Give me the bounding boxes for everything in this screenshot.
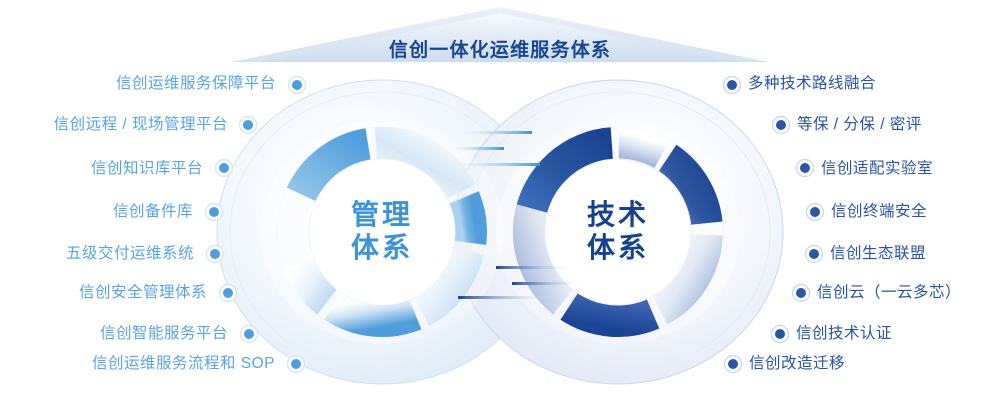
node-dot-left-1 <box>289 77 306 94</box>
management-ring-label-line2: 体系 <box>312 231 452 264</box>
left-label-6[interactable]: 信创安全管理体系 <box>79 285 207 301</box>
management-ring-label-line1: 管理 <box>312 198 452 231</box>
node-dot-right-8 <box>725 356 742 373</box>
right-label-5[interactable]: 信创生态联盟 <box>830 246 926 262</box>
left-label-7[interactable]: 信创智能服务平台 <box>100 326 228 342</box>
technology-ring-label-line2: 体系 <box>548 231 688 264</box>
diagram-title: 信创一体化运维服务体系 <box>0 35 1000 62</box>
node-dot-right-5 <box>806 246 823 263</box>
node-dot-right-6 <box>793 285 810 302</box>
right-label-8[interactable]: 信创改造迁移 <box>749 356 845 372</box>
left-label-1[interactable]: 信创运维服务保障平台 <box>116 76 276 92</box>
left-label-3[interactable]: 信创知识库平台 <box>91 161 203 177</box>
left-label-5[interactable]: 五级交付运维系统 <box>66 246 194 262</box>
node-dot-left-5 <box>207 246 224 263</box>
management-ring-label: 管理 体系 <box>312 198 452 264</box>
node-dot-right-1 <box>724 77 741 94</box>
right-label-7[interactable]: 信创技术认证 <box>796 326 892 342</box>
node-dot-left-7 <box>241 326 258 343</box>
node-dot-right-3 <box>797 160 814 177</box>
left-label-8[interactable]: 信创运维服务流程和 SOP <box>92 356 275 372</box>
node-dot-left-8 <box>288 356 305 373</box>
right-label-4[interactable]: 信创终端安全 <box>831 204 927 220</box>
node-dot-right-4 <box>807 204 824 221</box>
right-label-1[interactable]: 多种技术路线融合 <box>748 76 876 92</box>
node-dot-left-3 <box>216 160 233 177</box>
node-dot-left-6 <box>220 285 237 302</box>
technology-ring-label-line1: 技术 <box>548 198 688 231</box>
technology-ring-label: 技术 体系 <box>548 198 688 264</box>
node-dot-right-2 <box>773 117 790 134</box>
left-label-4[interactable]: 信创备件库 <box>113 204 193 220</box>
right-label-3[interactable]: 信创适配实验室 <box>821 161 933 177</box>
node-dot-right-7 <box>772 326 789 343</box>
infographic-canvas: 信创一体化运维服务体系 信创运维服务保障平台 信创远程 / 现场管理平台 信创知… <box>0 0 1000 408</box>
node-dot-left-4 <box>206 204 223 221</box>
right-label-6[interactable]: 信创云（一云多芯） <box>817 285 961 301</box>
left-label-2[interactable]: 信创远程 / 现场管理平台 <box>54 117 228 133</box>
node-dot-left-2 <box>240 117 257 134</box>
right-label-2[interactable]: 等保 / 分保 / 密评 <box>797 117 922 133</box>
